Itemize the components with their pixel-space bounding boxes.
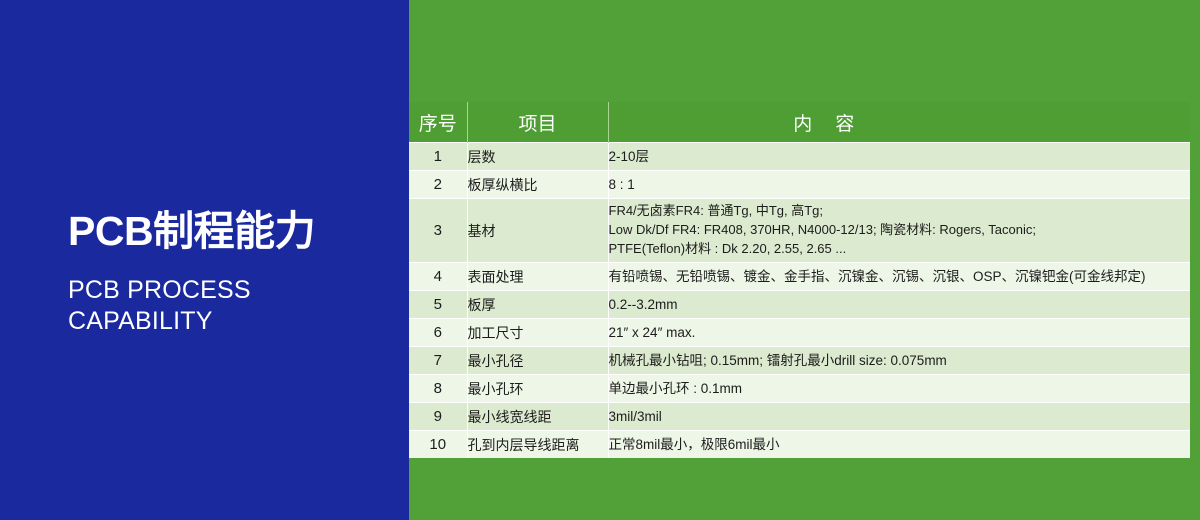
table-row: 1 层数 2-10层 (409, 143, 1190, 171)
slide-root: PCB制程能力 PCB PROCESS CAPABILITY 序号 项目 内容 (0, 0, 1200, 520)
spec-table-container: 序号 项目 内容 1 层数 2-10层 2 板厚纵横比 8 : 1 3 (409, 102, 1190, 458)
row-item: 最小线宽线距 (467, 403, 608, 431)
row-no: 4 (409, 263, 467, 291)
row-item: 基材 (467, 199, 608, 263)
row-content: 有铅喷锡、无铅喷锡、镀金、金手指、沉镍金、沉锡、沉银、OSP、沉镍钯金(可金线邦… (608, 263, 1190, 291)
table-row: 8 最小孔环 单边最小孔环 : 0.1mm (409, 375, 1190, 403)
page-subtitle-en: PCB PROCESS CAPABILITY (68, 275, 398, 336)
row-content: 0.2--3.2mm (608, 291, 1190, 319)
spec-table-header: 序号 项目 内容 (409, 102, 1190, 143)
row-item: 表面处理 (467, 263, 608, 291)
spec-table-body: 1 层数 2-10层 2 板厚纵横比 8 : 1 3 基材 FR4/无卤素FR4… (409, 143, 1190, 459)
table-row: 6 加工尺寸 21″ x 24″ max. (409, 319, 1190, 347)
row-item: 板厚 (467, 291, 608, 319)
row-item: 最小孔环 (467, 375, 608, 403)
column-header-no: 序号 (409, 102, 467, 143)
page-subtitle-line1: PCB PROCESS (68, 275, 398, 306)
table-row: 10 孔到内层导线距离 正常8mil最小，极限6mil最小 (409, 431, 1190, 459)
row-item: 孔到内层导线距离 (467, 431, 608, 459)
row-content: FR4/无卤素FR4: 普通Tg, 中Tg, 高Tg; Low Dk/Df FR… (608, 199, 1190, 263)
row-content: 21″ x 24″ max. (608, 319, 1190, 347)
row-no: 6 (409, 319, 467, 347)
row-content: 单边最小孔环 : 0.1mm (608, 375, 1190, 403)
page-subtitle-line2: CAPABILITY (68, 306, 398, 337)
row-content: 8 : 1 (608, 171, 1190, 199)
row-no: 5 (409, 291, 467, 319)
row-content: 机械孔最小钻咀; 0.15mm; 镭射孔最小drill size: 0.075m… (608, 347, 1190, 375)
table-row: 4 表面处理 有铅喷锡、无铅喷锡、镀金、金手指、沉镍金、沉锡、沉银、OSP、沉镍… (409, 263, 1190, 291)
row-no: 8 (409, 375, 467, 403)
table-row: 9 最小线宽线距 3mil/3mil (409, 403, 1190, 431)
row-no: 3 (409, 199, 467, 263)
spec-table: 序号 项目 内容 1 层数 2-10层 2 板厚纵横比 8 : 1 3 (409, 102, 1190, 458)
row-content: 3mil/3mil (608, 403, 1190, 431)
row-no: 7 (409, 347, 467, 375)
page-title-cn: PCB制程能力 (68, 210, 398, 253)
header-row: 序号 项目 内容 (409, 102, 1190, 143)
table-row: 7 最小孔径 机械孔最小钻咀; 0.15mm; 镭射孔最小drill size:… (409, 347, 1190, 375)
row-no: 9 (409, 403, 467, 431)
row-no: 10 (409, 431, 467, 459)
row-no: 2 (409, 171, 467, 199)
row-content: 正常8mil最小，极限6mil最小 (608, 431, 1190, 459)
row-content: 2-10层 (608, 143, 1190, 171)
column-header-content: 内容 (608, 102, 1190, 143)
table-row: 2 板厚纵横比 8 : 1 (409, 171, 1190, 199)
row-item: 最小孔径 (467, 347, 608, 375)
row-item: 加工尺寸 (467, 319, 608, 347)
column-header-content-char1: 内 (793, 114, 813, 135)
row-item: 层数 (467, 143, 608, 171)
table-row: 3 基材 FR4/无卤素FR4: 普通Tg, 中Tg, 高Tg; Low Dk/… (409, 199, 1190, 263)
row-no: 1 (409, 143, 467, 171)
left-blue-panel: PCB制程能力 PCB PROCESS CAPABILITY (0, 0, 409, 520)
title-block: PCB制程能力 PCB PROCESS CAPABILITY (68, 210, 398, 336)
column-header-item: 项目 (467, 102, 608, 143)
column-header-content-char2: 容 (835, 114, 855, 135)
row-item: 板厚纵横比 (467, 171, 608, 199)
table-row: 5 板厚 0.2--3.2mm (409, 291, 1190, 319)
